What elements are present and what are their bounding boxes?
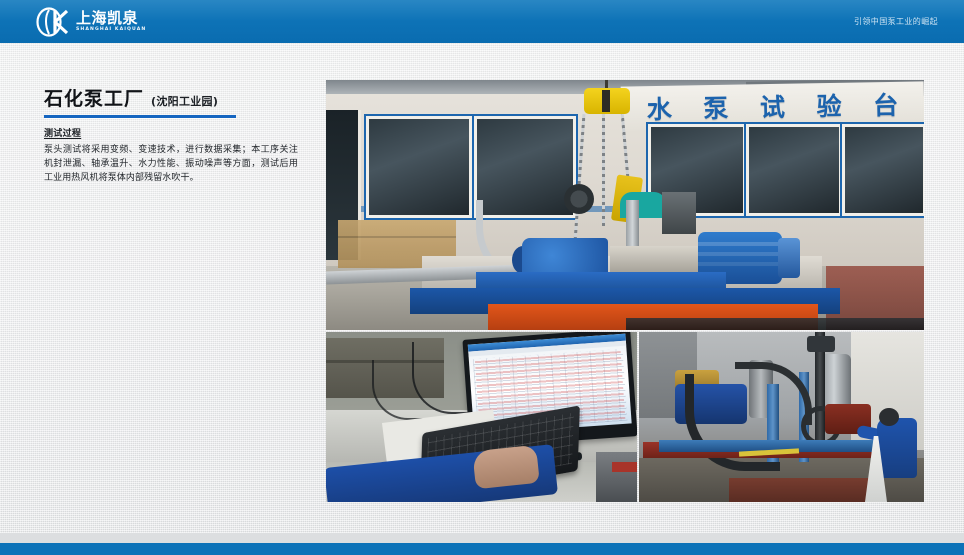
photo-equipment-rack xyxy=(596,452,637,502)
brand-logo-text: 上海凯泉 SHANGHAI KAIQUAN xyxy=(76,11,146,33)
brand-name-en: SHANGHAI KAIQUAN xyxy=(76,28,146,33)
photo-technician-body xyxy=(877,418,917,478)
page-title-row: 石化泵工厂 (沈阳工业园) xyxy=(44,84,304,111)
photo-collage: 水 泵 试 验 台 xyxy=(326,80,924,502)
photo-lifting-chain xyxy=(602,114,605,226)
header-slogan: 引领中国泵工业的崛起 xyxy=(854,0,938,43)
page-title-main: 石化泵工厂 xyxy=(44,84,144,111)
sign-char-1: 泵 xyxy=(703,89,729,125)
photo-window xyxy=(366,116,472,218)
photo-cable-run xyxy=(626,318,924,330)
page-title: 石化泵工厂 (沈阳工业园) xyxy=(44,84,304,118)
title-underline-rule xyxy=(44,115,236,118)
photo-chain-hoist xyxy=(584,88,630,114)
photo-red-floor-mat xyxy=(729,478,879,502)
sign-char-2: 试 xyxy=(760,88,786,124)
section-paragraph: 泵头测试将采用变频、变速技术，进行数据采集；本工序关注机封泄漏、轴承温升、水力性… xyxy=(44,143,298,186)
page-title-sub: (沈阳工业园) xyxy=(151,93,218,109)
photo-window xyxy=(842,124,924,216)
photo-pipe-flange xyxy=(564,184,594,214)
brand-logo[interactable]: 上海凯泉 SHANGHAI KAIQUAN xyxy=(36,6,146,37)
photo-skid-test-rig xyxy=(639,332,924,502)
footer-separator xyxy=(0,533,964,543)
page-header: 上海凯泉 SHANGHAI KAIQUAN 引领中国泵工业的崛起 xyxy=(0,0,964,43)
brand-name-cn: 上海凯泉 xyxy=(76,11,146,26)
sign-char-3: 验 xyxy=(816,87,842,123)
photo-top-valve xyxy=(807,336,835,352)
page-footer-bar xyxy=(0,543,964,555)
photo-technician-head xyxy=(879,408,899,426)
photo-red-marker xyxy=(612,462,637,472)
photo-motor-fan-cover xyxy=(778,238,800,278)
sign-char-0: 水 xyxy=(646,90,672,126)
photo-pump-test-stand: 水 泵 试 验 台 xyxy=(326,80,924,330)
photo-window xyxy=(746,124,842,216)
section-heading: 测试过程 xyxy=(44,126,298,139)
photo-valve xyxy=(662,192,696,234)
sign-char-4: 台 xyxy=(873,86,899,122)
kaiquan-k-mark-icon xyxy=(36,7,70,37)
photo-operator-hand xyxy=(472,445,540,489)
description-block: 测试过程 泵头测试将采用变频、变速技术，进行数据采集；本工序关注机封泄漏、轴承温… xyxy=(44,126,298,186)
photo-data-acquisition-station xyxy=(326,332,637,502)
